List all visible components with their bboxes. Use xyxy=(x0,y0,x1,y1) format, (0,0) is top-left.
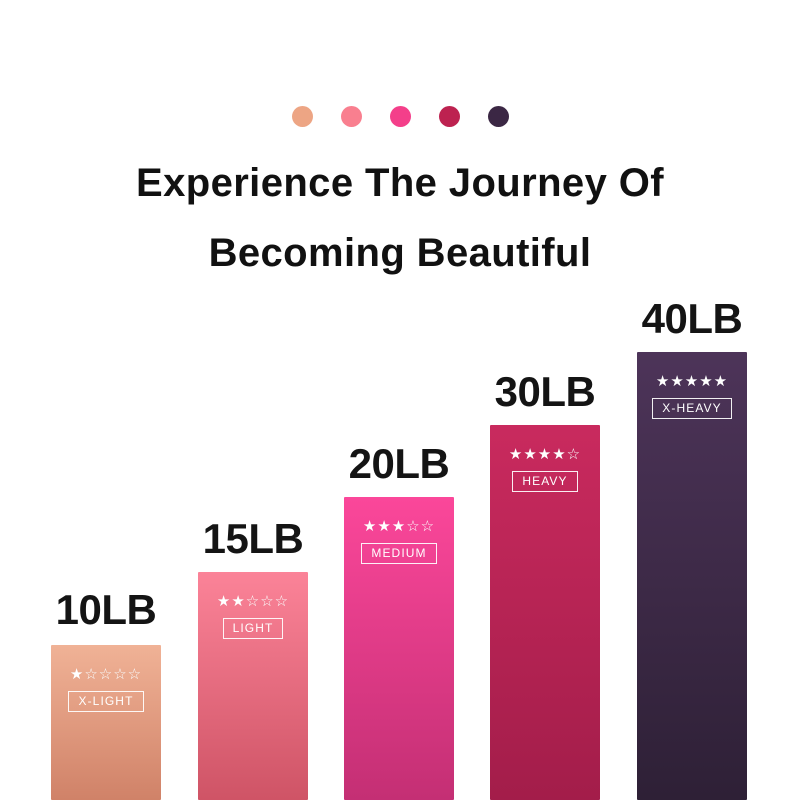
bar-content-10lb: ★☆☆☆☆X-LIGHT xyxy=(51,667,161,712)
infographic-poster: Experience The Journey Of Becoming Beaut… xyxy=(0,0,800,800)
bar-content-30lb: ★★★★☆HEAVY xyxy=(490,447,600,492)
bar-15lb[interactable]: ★★☆☆☆LIGHT xyxy=(198,572,308,800)
status-badge-20lb: MEDIUM xyxy=(361,543,436,564)
star-rating-icon-20lb: ★★★☆☆ xyxy=(363,519,435,534)
star-rating-icon-40lb: ★★★★★ xyxy=(656,374,728,389)
bar-content-40lb: ★★★★★X-HEAVY xyxy=(637,374,747,419)
bar-40lb[interactable]: ★★★★★X-HEAVY xyxy=(637,352,747,800)
bar-value-label-40lb: 40LB xyxy=(642,298,743,340)
bar-content-20lb: ★★★☆☆MEDIUM xyxy=(344,519,454,564)
bar-value-label-10lb: 10LB xyxy=(56,589,157,631)
bar-value-label-15lb: 15LB xyxy=(203,518,304,560)
status-badge-40lb: X-HEAVY xyxy=(652,398,732,419)
star-rating-icon-15lb: ★★☆☆☆ xyxy=(217,594,289,609)
bar-group-15lb[interactable]: 15LB★★☆☆☆LIGHT xyxy=(198,518,308,800)
bar-20lb[interactable]: ★★★☆☆MEDIUM xyxy=(344,497,454,800)
bar-value-label-20lb: 20LB xyxy=(349,443,450,485)
bar-content-15lb: ★★☆☆☆LIGHT xyxy=(198,594,308,639)
bar-group-20lb[interactable]: 20LB★★★☆☆MEDIUM xyxy=(344,443,454,800)
status-badge-30lb: HEAVY xyxy=(512,471,577,492)
bar-group-30lb[interactable]: 30LB★★★★☆HEAVY xyxy=(490,371,600,800)
status-badge-15lb: LIGHT xyxy=(223,618,284,639)
star-rating-icon-10lb: ★☆☆☆☆ xyxy=(70,667,142,682)
bar-10lb[interactable]: ★☆☆☆☆X-LIGHT xyxy=(51,645,161,800)
bar-value-label-30lb: 30LB xyxy=(495,371,596,413)
bar-30lb[interactable]: ★★★★☆HEAVY xyxy=(490,425,600,800)
status-badge-10lb: X-LIGHT xyxy=(68,691,143,712)
bar-group-40lb[interactable]: 40LB★★★★★X-HEAVY xyxy=(637,298,747,800)
bar-group-10lb[interactable]: 10LB★☆☆☆☆X-LIGHT xyxy=(51,589,161,800)
star-rating-icon-30lb: ★★★★☆ xyxy=(509,447,581,462)
resistance-band-bar-chart: 10LB★☆☆☆☆X-LIGHT15LB★★☆☆☆LIGHT20LB★★★☆☆M… xyxy=(0,0,800,800)
